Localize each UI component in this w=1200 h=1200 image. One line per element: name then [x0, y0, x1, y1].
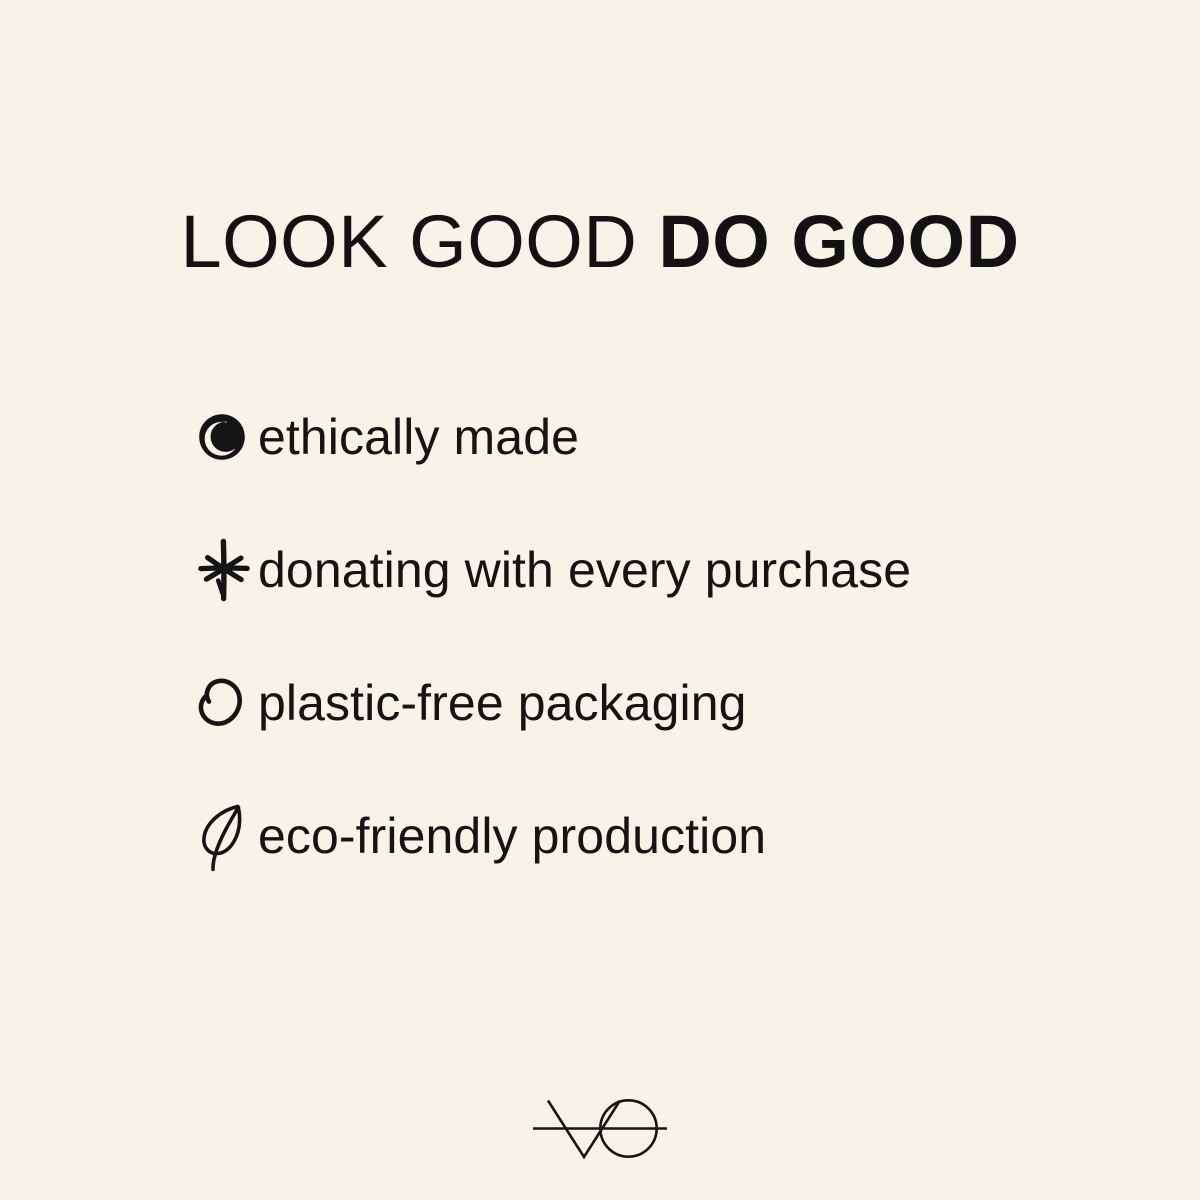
list-item-label: eco-friendly production — [258, 811, 766, 861]
poster-canvas: LOOK GOOD DO GOOD ethically made — [0, 0, 1200, 1200]
asterisk-star-icon — [196, 535, 258, 605]
list-item: eco-friendly production — [196, 801, 1096, 871]
vo-monogram-logo — [526, 1086, 674, 1170]
list-item-label: ethically made — [258, 412, 579, 462]
list-item-label: plastic-free packaging — [258, 678, 747, 728]
list-item-label: donating with every purchase — [258, 545, 911, 595]
open-loop-circle-icon — [196, 668, 258, 738]
feature-list: ethically made — [196, 402, 1096, 934]
brand-logo — [0, 1086, 1200, 1170]
headline-light-part: LOOK GOOD — [180, 200, 637, 283]
page-title: LOOK GOOD DO GOOD — [0, 205, 1200, 279]
leaf-icon — [196, 801, 258, 871]
list-item: ethically made — [196, 402, 1096, 472]
headline-bold-part: DO GOOD — [658, 200, 1019, 283]
list-item: donating with every purchase — [196, 535, 1096, 605]
list-item: plastic-free packaging — [196, 668, 1096, 738]
swirl-circle-icon — [196, 402, 258, 472]
